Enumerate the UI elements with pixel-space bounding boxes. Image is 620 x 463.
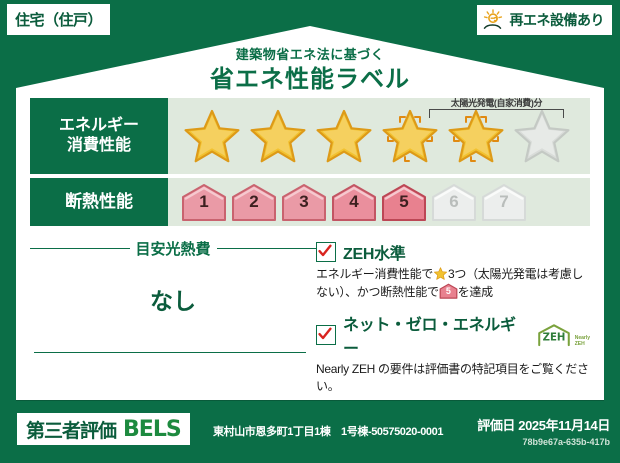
solar-annotation-bracket bbox=[429, 109, 564, 118]
insulation-badge-6: 6 bbox=[430, 183, 478, 221]
inline-badge-number: 5 bbox=[439, 285, 458, 298]
zeh-house-icon: ZEH Nearly ZEH bbox=[534, 323, 590, 347]
insulation-badge-7: 7 bbox=[480, 183, 528, 221]
renewable-badge-label: 再エネ設備あり bbox=[510, 10, 605, 30]
net-zero-energy-description: Nearly ZEH の要件は評価書の特記項目をご覧ください。 bbox=[316, 361, 590, 396]
insulation-badge-4: 4 bbox=[330, 183, 378, 221]
insulation-performance-label-text: 断熱性能 bbox=[65, 192, 133, 213]
insulation-levels-panel: 1 2 3 4 bbox=[168, 178, 590, 226]
insulation-badge-2-number: 2 bbox=[230, 192, 278, 212]
insulation-badge-3-number: 3 bbox=[280, 192, 328, 212]
inline-insulation-badge-icon: 5 bbox=[439, 283, 458, 299]
footer-bar: 第三者評価 BELS 東村山市恩多町1丁目1棟 1号棟-50575020-000… bbox=[0, 401, 620, 463]
utility-cost-rule-right bbox=[217, 248, 317, 249]
zeh-desc-part-3: を達成 bbox=[458, 285, 493, 299]
net-zero-energy-checkbox[interactable] bbox=[316, 325, 336, 345]
category-tag: 住宅（住戸） bbox=[6, 3, 111, 36]
zeh-standard-title: ZEH水準 bbox=[343, 240, 406, 264]
insulation-badge-1-number: 1 bbox=[180, 192, 228, 212]
solar-annotation: 太陽光発電(自家消費)分 bbox=[427, 96, 566, 122]
page-title: 省エネ性能ラベル bbox=[16, 59, 604, 94]
energy-performance-label-text: エネルギー消費性能 bbox=[59, 116, 139, 155]
zeh-standard-checkbox[interactable] bbox=[316, 242, 336, 262]
utility-cost-value: なし bbox=[30, 282, 316, 316]
insulation-badge-1: 1 bbox=[180, 183, 228, 221]
insulation-level-badges: 1 2 3 4 bbox=[168, 183, 528, 221]
zeh-standard-description: エネルギー消費性能で3つ（太陽光発電は考慮しない）、かつ断熱性能で5を達成 bbox=[316, 266, 590, 302]
property-address: 東村山市恩多町1丁目1棟 1号棟-50575020-0001 bbox=[213, 423, 443, 439]
sun-icon bbox=[482, 9, 506, 31]
renewable-equipment-badge: 再エネ設備あり bbox=[476, 4, 614, 36]
inline-star-icon bbox=[433, 266, 448, 281]
energy-performance-label: エネルギー消費性能 bbox=[30, 98, 168, 174]
insulation-performance-label: 断熱性能 bbox=[30, 178, 168, 226]
insulation-badge-2: 2 bbox=[230, 183, 278, 221]
evaluation-date-label: 評価日 bbox=[477, 418, 515, 433]
svg-text:ZEH: ZEH bbox=[542, 332, 565, 343]
utility-cost-bottom-rule bbox=[34, 352, 306, 353]
zeh-logo-sub-line2: ZEH bbox=[575, 341, 585, 347]
third-party-evaluation-label: 第三者評価 bbox=[26, 416, 116, 443]
energy-stars-panel: 太陽光発電(自家消費)分 bbox=[168, 98, 590, 174]
document-id: 78b9e67a-635b-417b bbox=[477, 437, 610, 447]
utility-cost-heading-text: 目安光熱費 bbox=[136, 238, 211, 259]
insulation-badge-7-number: 7 bbox=[480, 192, 528, 212]
evaluation-info: 評価日 2025年11月14日 78b9e67a-635b-417b bbox=[477, 415, 610, 447]
category-tag-label: 住宅（住戸） bbox=[15, 9, 102, 30]
insulation-badge-4-number: 4 bbox=[330, 192, 378, 212]
insulation-performance-row: 断熱性能 1 2 3 bbox=[30, 178, 590, 226]
evaluation-date-value: 2025年11月14日 bbox=[518, 418, 610, 433]
solar-annotation-label: 太陽光発電(自家消費)分 bbox=[427, 96, 566, 109]
energy-performance-row: エネルギー消費性能 bbox=[30, 98, 590, 174]
net-zero-energy-title: ネット・ゼロ・エネルギー bbox=[343, 311, 525, 359]
insulation-badge-3: 3 bbox=[280, 183, 328, 221]
star-3 bbox=[312, 105, 376, 167]
utility-cost-heading: 目安光熱費 bbox=[30, 238, 316, 259]
energy-performance-label: 住宅（住戸） 再エネ設備あり 建築物省エネ法に基づく 省エ bbox=[0, 0, 620, 463]
criteria-zeh-standard: ZEH水準 エネルギー消費性能で3つ（太陽光発電は考慮しない）、かつ断熱性能で5… bbox=[316, 240, 590, 302]
bels-logo-text: BELS bbox=[123, 417, 181, 442]
criteria-panel: ZEH水準 エネルギー消費性能で3つ（太陽光発電は考慮しない）、かつ断熱性能で5… bbox=[316, 234, 590, 384]
insulation-badge-5: 5 bbox=[380, 183, 428, 221]
evaluation-date-line: 評価日 2025年11月14日 bbox=[477, 415, 610, 434]
star-1 bbox=[180, 105, 244, 167]
utility-cost-panel: 目安光熱費 なし bbox=[30, 234, 316, 384]
criteria-net-zero-energy: ネット・ゼロ・エネルギー ZEH Nearly ZEH bbox=[316, 311, 590, 396]
bels-certification-mark: 第三者評価 BELS bbox=[17, 413, 190, 445]
utility-cost-rule-left bbox=[30, 248, 130, 249]
insulation-badge-5-number: 5 bbox=[380, 192, 428, 212]
insulation-badge-6-number: 6 bbox=[430, 192, 478, 212]
zeh-logo-sub: Nearly ZEH bbox=[575, 336, 590, 347]
star-2 bbox=[246, 105, 310, 167]
lower-section: 目安光熱費 なし ZEH水準 bbox=[30, 234, 590, 384]
label-card: 建築物省エネ法に基づく 省エネ性能ラベル エネルギー消費性能 bbox=[16, 26, 604, 400]
zeh-desc-part-1: エネルギー消費性能で bbox=[316, 267, 433, 281]
